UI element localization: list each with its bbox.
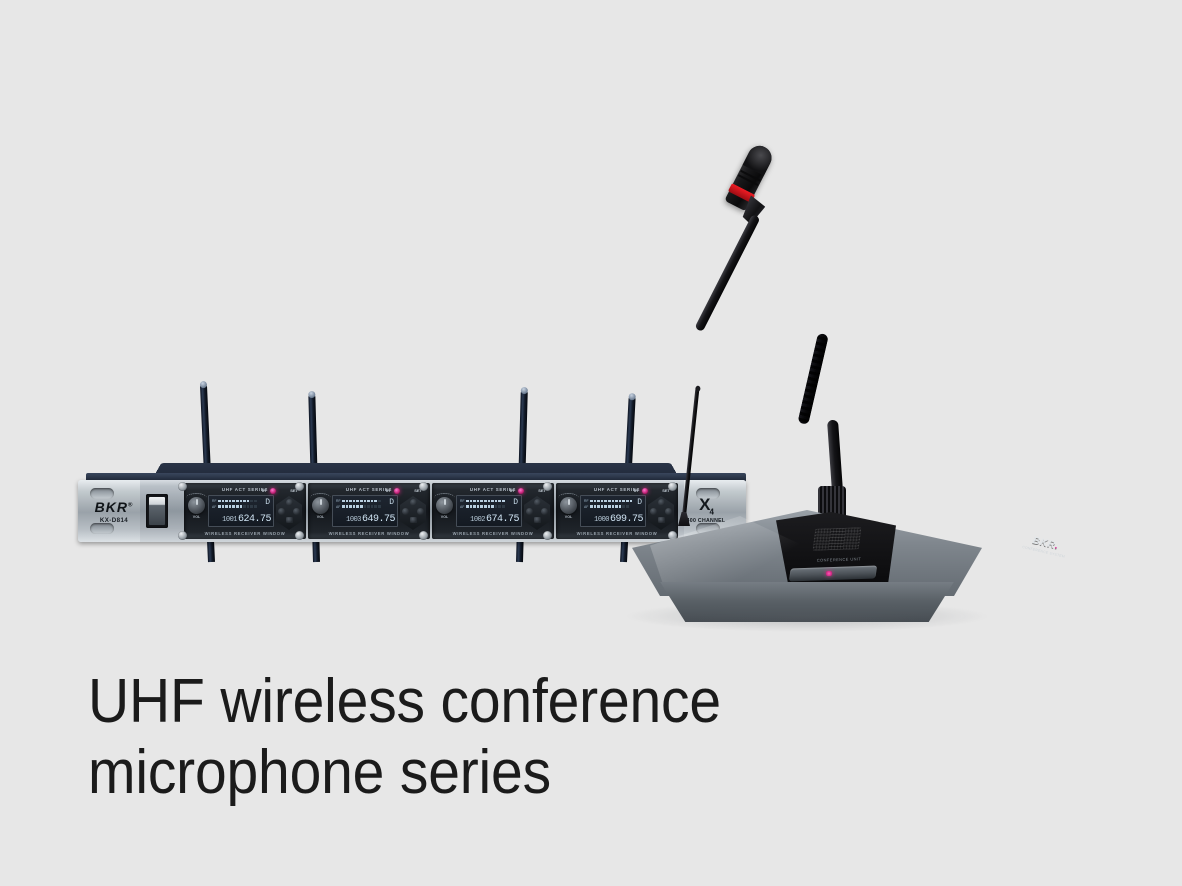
nav-right-button[interactable] xyxy=(293,508,300,515)
af-meter: AF xyxy=(336,505,385,509)
gooseneck-lower xyxy=(827,420,843,493)
group-readout: 1003 xyxy=(346,516,361,524)
receiver-channel-2: UHF ACT SERIES VOL RF AF D 1003649.75 IR… xyxy=(308,483,430,539)
speaker-grille xyxy=(813,527,862,551)
frequency-readout: 1003649.75 xyxy=(335,515,395,525)
channel-footer: WIRELESS RECEIVER WINDOW xyxy=(308,531,430,536)
signal-meters: RF AF xyxy=(584,499,633,510)
ir-led-icon xyxy=(642,488,648,494)
model-number: KX-D814 xyxy=(88,517,140,524)
registered-mark: ® xyxy=(128,502,133,508)
nav-enter-button[interactable] xyxy=(658,517,665,523)
nav-enter-button[interactable] xyxy=(534,517,541,523)
nav-up-button[interactable] xyxy=(410,499,417,506)
navigation-pad[interactable] xyxy=(276,496,302,530)
rack-mount-wireless-receiver: BKR® KX-D814 X4 400 CHANNEL UHF ACT SERI… xyxy=(72,262,752,562)
group-readout: 1002 xyxy=(470,516,485,524)
volume-knob-label: VOL xyxy=(436,515,453,519)
frequency-value: 699.75 xyxy=(610,514,643,525)
page-title: UHF wireless conference microphone serie… xyxy=(88,666,916,809)
receiver-channel-1: UHF ACT SERIES VOL RF AF D 1001624.75 IR… xyxy=(184,483,306,539)
channel-lcd-display: RF AF D 1003649.75 xyxy=(332,495,398,527)
panel-screw xyxy=(543,531,552,540)
rf-meter: RF xyxy=(212,499,261,503)
channel-lcd-display: RF AF D 1002674.75 xyxy=(456,495,522,527)
nav-left-button[interactable] xyxy=(402,508,409,515)
panel-screw xyxy=(419,482,428,491)
rack-ear-hole xyxy=(90,488,114,499)
ir-led-icon xyxy=(518,488,524,494)
ir-label: IR xyxy=(262,488,266,493)
panel-screw xyxy=(295,482,304,491)
nav-enter-button[interactable] xyxy=(286,517,293,523)
ir-label: IR xyxy=(634,488,638,493)
talk-led-icon xyxy=(826,571,832,576)
brand-logo-text: BKR xyxy=(95,499,128,515)
ir-led-icon xyxy=(270,488,276,494)
volume-knob-label: VOL xyxy=(188,515,205,519)
signal-meters: RF AF xyxy=(212,499,261,510)
panel-screw xyxy=(419,531,428,540)
channel-footer: WIRELESS RECEIVER WINDOW xyxy=(184,531,306,536)
receiver-channel-3: UHF ACT SERIES VOL RF AF D 1002674.75 IR… xyxy=(432,483,554,539)
volume-knob[interactable] xyxy=(560,497,577,514)
panel-screw xyxy=(178,482,187,491)
nav-right-button[interactable] xyxy=(665,508,672,515)
power-switch-rocker xyxy=(149,497,165,525)
frequency-readout: 1000699.75 xyxy=(583,515,643,525)
gooseneck-upper xyxy=(694,214,760,332)
mode-indicator: D xyxy=(389,499,394,507)
rf-meter: RF xyxy=(460,499,509,503)
group-readout: 1001 xyxy=(222,516,237,524)
base-brand-logo: BKR. CONFERENCE SYSTEM xyxy=(1007,530,1083,562)
navigation-pad[interactable] xyxy=(648,496,674,530)
af-meter: AF xyxy=(584,505,633,509)
nav-left-button[interactable] xyxy=(650,508,657,515)
power-switch[interactable] xyxy=(146,494,168,528)
af-meter: AF xyxy=(460,505,509,509)
volume-knob[interactable] xyxy=(188,497,205,514)
receiver-faceplate: BKR® KX-D814 X4 400 CHANNEL UHF ACT SERI… xyxy=(78,480,746,542)
page-title-line-2: microphone series xyxy=(88,737,916,808)
channel-lcd-display: RF AF D 1000699.75 xyxy=(580,495,646,527)
mode-indicator: D xyxy=(513,499,518,507)
nav-left-button[interactable] xyxy=(278,508,285,515)
channel-footer: WIRELESS RECEIVER WINDOW xyxy=(432,531,554,536)
navigation-pad[interactable] xyxy=(524,496,550,530)
mode-indicator: D xyxy=(265,499,270,507)
nav-up-button[interactable] xyxy=(286,499,293,506)
navigation-pad[interactable] xyxy=(400,496,426,530)
rack-ear-hole xyxy=(90,523,114,534)
gooseneck-conference-microphone: CONFERENCE UNIT BKR. CONFERENCE SYSTEM xyxy=(690,120,1110,620)
nav-left-button[interactable] xyxy=(526,508,533,515)
af-meter: AF xyxy=(212,505,261,509)
page-title-line-1: UHF wireless conference xyxy=(88,667,721,736)
nav-right-button[interactable] xyxy=(541,508,548,515)
channel-footer: WIRELESS RECEIVER WINDOW xyxy=(556,531,678,536)
group-readout: 1000 xyxy=(594,516,609,524)
ir-label: IR xyxy=(386,488,390,493)
microphone-shadow xyxy=(624,606,990,632)
rf-meter: RF xyxy=(336,499,385,503)
channel-header: UHF ACT SERIES xyxy=(556,487,678,492)
channel-header: UHF ACT SERIES xyxy=(184,487,306,492)
panel-screw xyxy=(543,482,552,491)
brand-logo: BKR® xyxy=(88,500,140,514)
channel-lcd-display: RF AF D 1001624.75 xyxy=(208,495,274,527)
rf-meter: RF xyxy=(584,499,633,503)
volume-knob-label: VOL xyxy=(560,515,577,519)
frequency-value: 624.75 xyxy=(238,514,271,525)
microphone-mesh-grille xyxy=(742,142,775,176)
mode-indicator: D xyxy=(637,499,642,507)
frequency-value: 649.75 xyxy=(362,514,395,525)
volume-knob[interactable] xyxy=(312,497,329,514)
signal-meters: RF AF xyxy=(336,499,385,510)
nav-up-button[interactable] xyxy=(534,499,541,506)
nav-up-button[interactable] xyxy=(658,499,665,506)
product-image-canvas: BKR® KX-D814 X4 400 CHANNEL UHF ACT SERI… xyxy=(0,0,1182,886)
panel-screw xyxy=(668,482,677,491)
ir-label: IR xyxy=(510,488,514,493)
ir-led-icon xyxy=(394,488,400,494)
frequency-value: 674.75 xyxy=(486,514,519,525)
panel-screw xyxy=(295,531,304,540)
gooseneck-flexible-section xyxy=(797,333,828,425)
channel-header: UHF ACT SERIES xyxy=(432,487,554,492)
signal-meters: RF AF xyxy=(460,499,509,510)
channel-header: UHF ACT SERIES xyxy=(308,487,430,492)
volume-knob[interactable] xyxy=(436,497,453,514)
nav-right-button[interactable] xyxy=(417,508,424,515)
receiver-channel-4: UHF ACT SERIES VOL RF AF D 1000699.75 IR… xyxy=(556,483,678,539)
frequency-readout: 1001624.75 xyxy=(211,515,271,525)
frequency-readout: 1002674.75 xyxy=(459,515,519,525)
volume-knob-label: VOL xyxy=(312,515,329,519)
panel-screw xyxy=(178,531,187,540)
nav-enter-button[interactable] xyxy=(410,517,417,523)
